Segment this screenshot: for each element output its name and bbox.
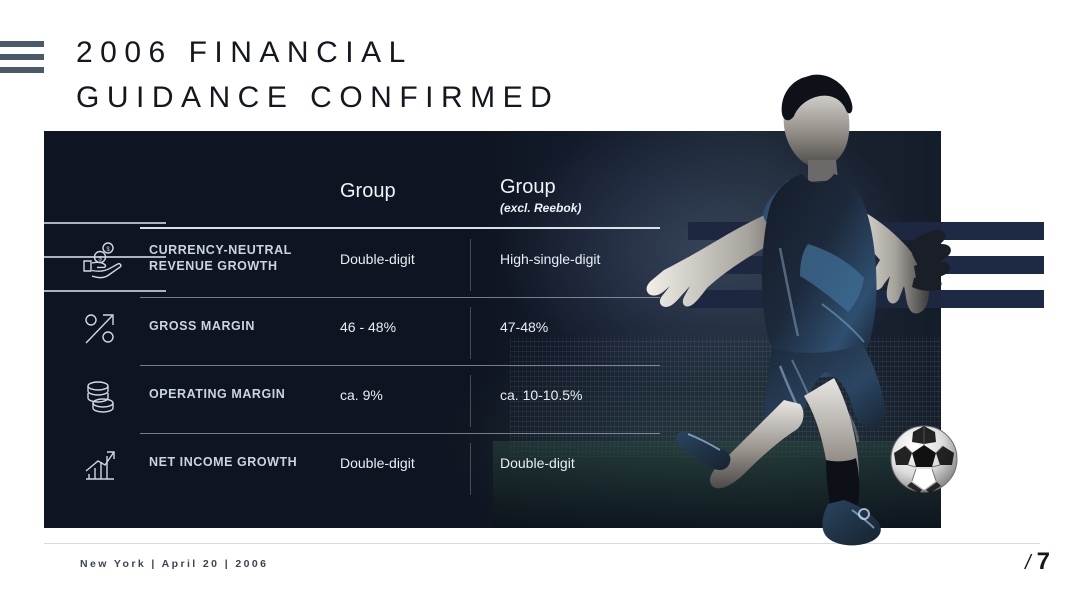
row-value-group: Double-digit [340, 251, 415, 267]
row-value-group-excl-reebok: Double-digit [500, 455, 575, 471]
column-divider [470, 443, 471, 495]
column-header-group-excl-reebok: Group (excl. Reebok) [500, 175, 581, 216]
column-divider [470, 375, 471, 427]
column-header-sublabel: (excl. Reebok) [500, 201, 581, 216]
column-header-label: Group [500, 175, 581, 199]
table-header-row: Group Group (excl. Reebok) [44, 169, 941, 227]
logo-mark [0, 41, 44, 73]
row-value-group: Double-digit [340, 455, 415, 471]
row-label: OPERATING MARGIN [149, 387, 339, 403]
guidance-table: Group Group (excl. Reebok) $ $ [44, 131, 941, 528]
row-separator [140, 365, 660, 366]
row-value-group: ca. 9% [340, 387, 383, 403]
column-divider [470, 307, 471, 359]
row-value-group-excl-reebok: ca. 10-10.5% [500, 387, 583, 403]
footer-divider [44, 543, 1040, 544]
table-row: NET INCOME GROWTH Double-digit Double-di… [44, 437, 941, 505]
header-rule [140, 227, 660, 229]
percent-arrow-icon [78, 307, 122, 351]
soccer-ball [889, 424, 959, 494]
svg-text:$: $ [98, 256, 102, 263]
row-value-group: 46 - 48% [340, 319, 396, 335]
row-separator [140, 297, 660, 298]
row-label: CURRENCY-NEUTRAL REVENUE GROWTH [149, 243, 339, 274]
page-slash: / [1025, 552, 1033, 574]
column-divider [470, 239, 471, 291]
table-row: GROSS MARGIN 46 - 48% 47-48% [44, 301, 941, 369]
row-value-group-excl-reebok: 47-48% [500, 319, 548, 335]
table-row: OPERATING MARGIN ca. 9% ca. 10-10.5% [44, 369, 941, 437]
logo-bar [0, 54, 44, 60]
page-title: 2006 FINANCIAL GUIDANCE CONFIRMED [76, 30, 716, 120]
logo-bar [0, 67, 44, 73]
bar-chart-arrow-icon [78, 443, 122, 487]
logo-bar [0, 41, 44, 47]
page-number: /7 [1025, 548, 1052, 576]
row-label: NET INCOME GROWTH [149, 455, 339, 471]
row-separator [140, 433, 660, 434]
footer-location-date: New York | April 20 | 2006 [80, 558, 268, 570]
table-row: $ $ CURRENCY-NEUTRAL REVENUE GROWTH Doub… [44, 233, 941, 301]
page-number-value: 7 [1037, 548, 1052, 575]
hand-coins-icon: $ $ [78, 237, 122, 281]
content-panel: Group Group (excl. Reebok) $ $ [44, 131, 941, 528]
row-value-group-excl-reebok: High-single-digit [500, 251, 600, 267]
column-header-group: Group [340, 179, 396, 203]
slide: 2006 FINANCIAL GUIDANCE CONFIRMED Group … [0, 0, 1080, 608]
row-label: GROSS MARGIN [149, 319, 339, 335]
coin-stack-icon [78, 375, 122, 419]
